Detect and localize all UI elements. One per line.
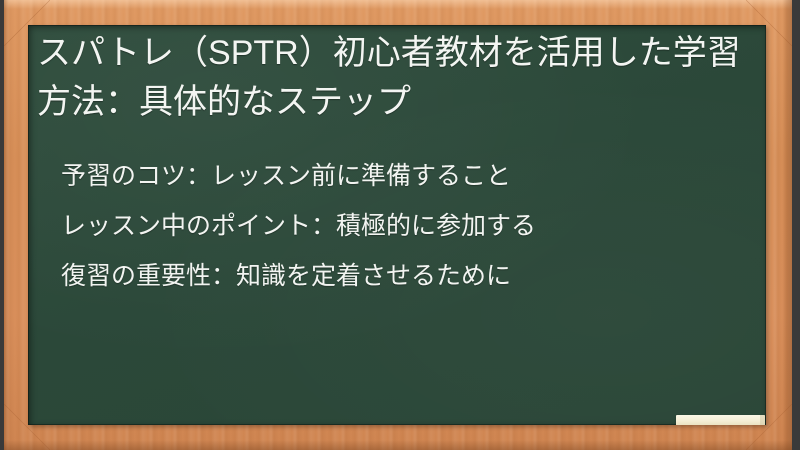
frame-bottom-shadow	[4, 440, 792, 450]
chalk-stick	[676, 415, 765, 425]
bullet-item-3: 復習の重要性：知識を定着させるために	[61, 251, 751, 301]
frame-top-highlight	[4, 0, 792, 9]
frame-right-edge	[782, 0, 792, 450]
frame-left-edge	[4, 0, 9, 450]
bullet-list: 予習のコツ：レッスン前に準備すること レッスン中のポイント：積極的に参加する 復…	[61, 151, 751, 301]
chalkboard-surface: スパトレ（SPTR）初心者教材を活用した学習方法：具体的なステップ 予習のコツ：…	[28, 25, 766, 425]
bullet-item-1: 予習のコツ：レッスン前に準備すること	[61, 151, 751, 201]
bullet-item-2: レッスン中のポイント：積極的に参加する	[61, 201, 751, 251]
slide-title: スパトレ（SPTR）初心者教材を活用した学習方法：具体的なステップ	[37, 29, 759, 127]
chalkboard-slide: スパトレ（SPTR）初心者教材を活用した学習方法：具体的なステップ 予習のコツ：…	[0, 0, 800, 450]
